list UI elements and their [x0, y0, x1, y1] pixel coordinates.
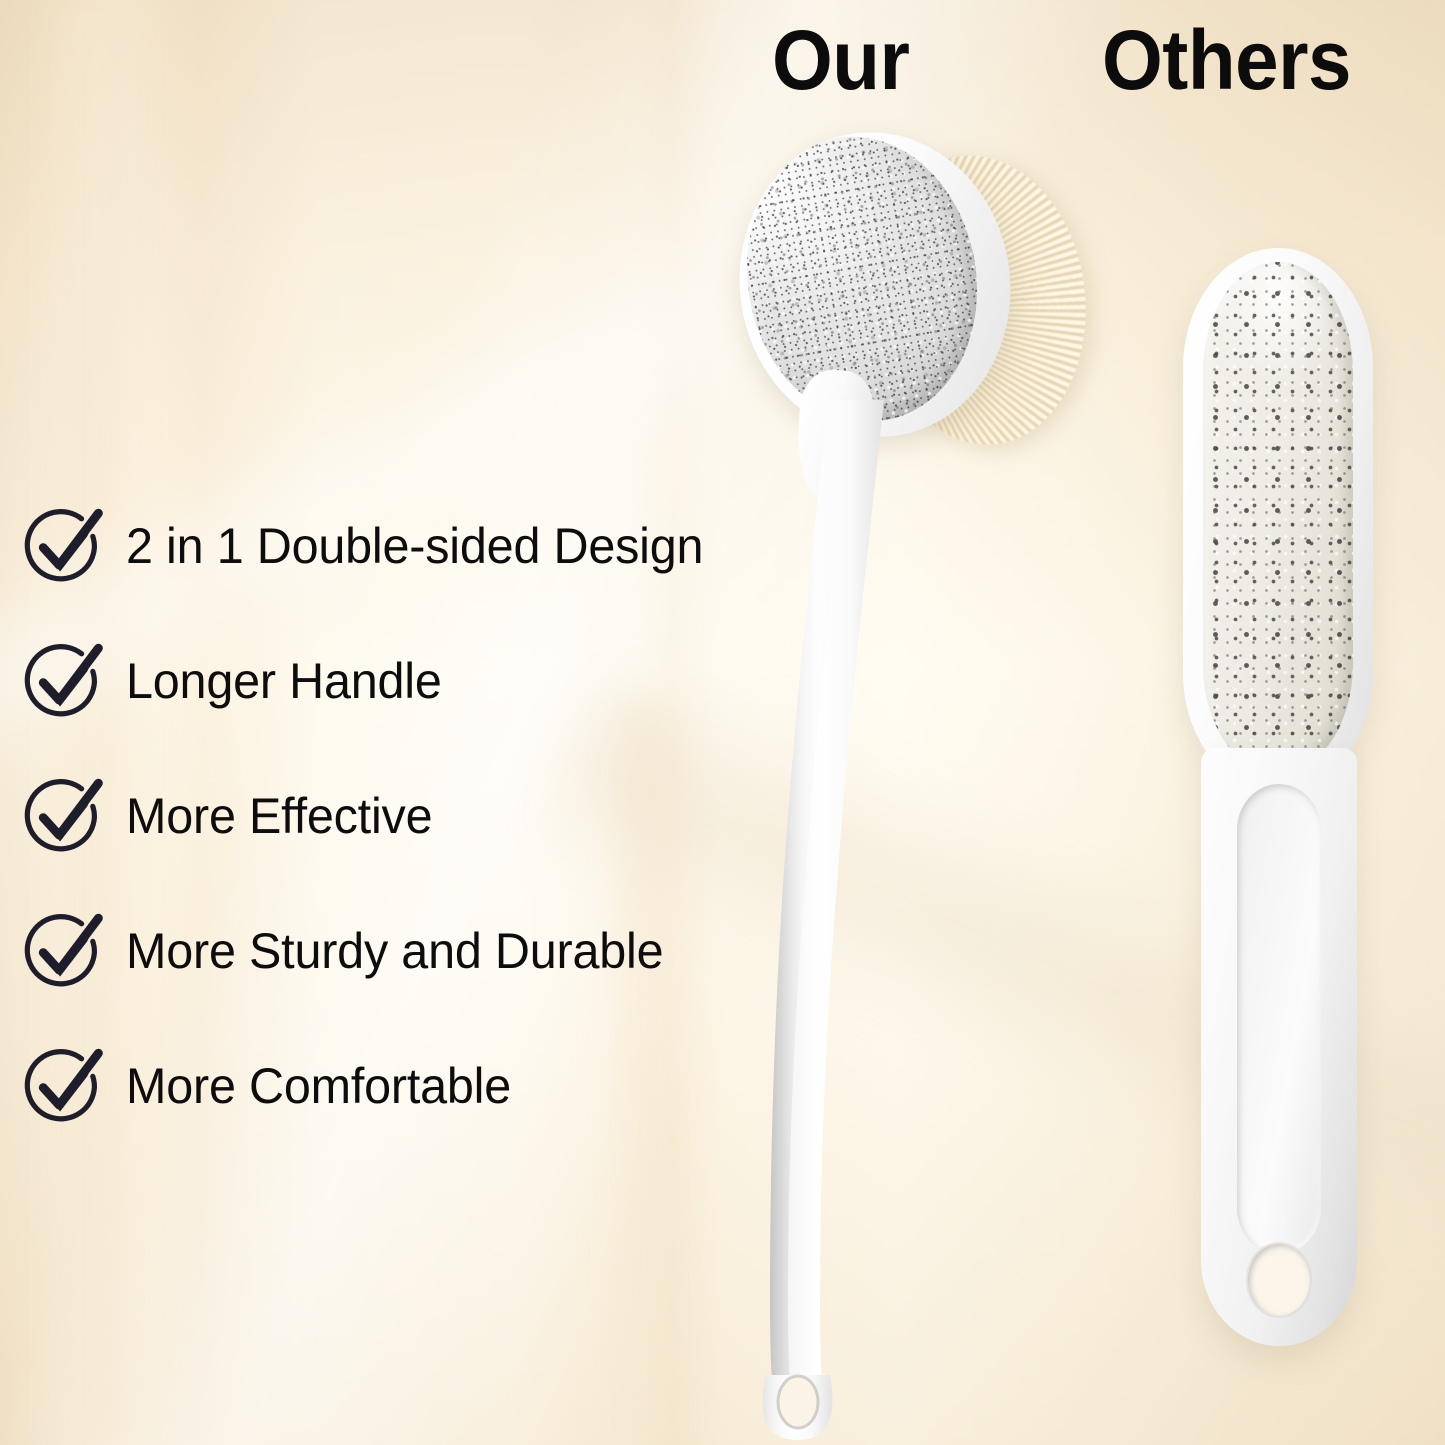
grip-groove: [1237, 784, 1321, 1254]
our-product-image: [700, 120, 1120, 1440]
hanging-hole: [1248, 1244, 1310, 1316]
heading-our: Our: [772, 18, 909, 102]
check-circle-icon: [24, 911, 104, 991]
feature-item: More Effective: [24, 748, 784, 883]
long-curved-handle: [700, 400, 1120, 1440]
heading-others: Others: [1102, 18, 1351, 102]
check-circle-icon: [24, 641, 104, 721]
check-circle-icon: [24, 1046, 104, 1126]
other-product-image: [1175, 248, 1385, 1358]
comparison-infographic: Our Others 2 in 1 Double-sided Design Lo…: [0, 0, 1445, 1445]
feature-item: Longer Handle: [24, 613, 784, 748]
feature-label: More Sturdy and Durable: [126, 926, 663, 976]
pumice-texture: [1203, 262, 1353, 774]
feature-label: More Comfortable: [126, 1061, 511, 1111]
flat-paddle-handle: [1201, 748, 1357, 1346]
check-circle-icon: [24, 506, 104, 586]
feature-label: 2 in 1 Double-sided Design: [126, 521, 703, 571]
feature-item: More Comfortable: [24, 1018, 784, 1153]
pumice-stone-pad: [1203, 262, 1353, 774]
feature-list: 2 in 1 Double-sided Design Longer Handle…: [24, 478, 784, 1153]
feature-item: More Sturdy and Durable: [24, 883, 784, 1018]
feature-item: 2 in 1 Double-sided Design: [24, 478, 784, 613]
feature-label: More Effective: [126, 791, 432, 841]
check-circle-icon: [24, 776, 104, 856]
feature-label: Longer Handle: [126, 656, 442, 706]
